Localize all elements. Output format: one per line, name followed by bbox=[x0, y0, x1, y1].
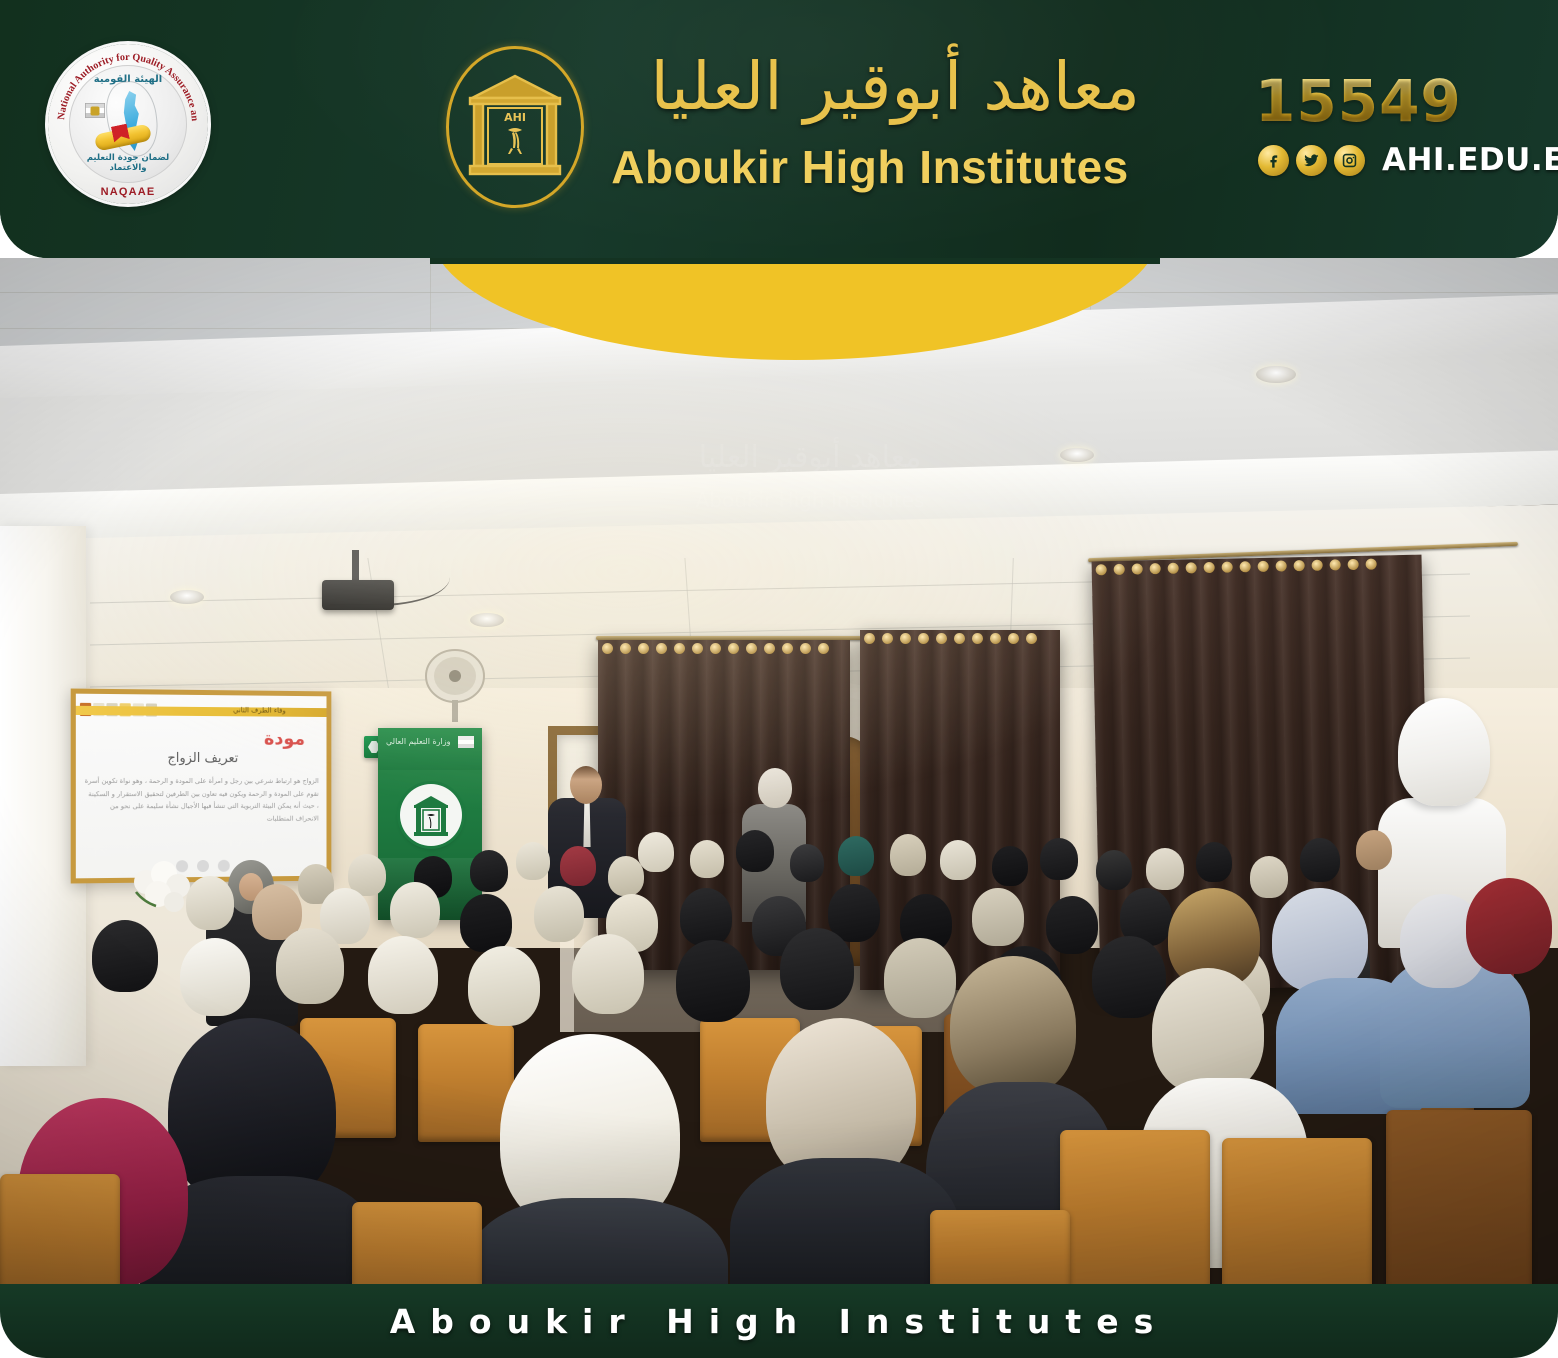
audience-head-foreground bbox=[1272, 888, 1368, 992]
wall-fan-icon bbox=[424, 646, 486, 726]
facebook-icon[interactable] bbox=[1258, 145, 1289, 176]
audience-head bbox=[736, 830, 774, 872]
audience-head bbox=[1040, 838, 1078, 880]
audience-head bbox=[560, 846, 596, 886]
ceiling-light-icon bbox=[1256, 366, 1296, 383]
egypt-flag-icon bbox=[85, 103, 105, 118]
slide-top-bar-text: وفاء الطرف الثاني bbox=[233, 706, 286, 714]
audience-head bbox=[276, 928, 344, 1004]
ceiling-light-icon bbox=[170, 590, 204, 604]
audience-head bbox=[534, 886, 584, 942]
audience-head bbox=[368, 936, 438, 1014]
audience-head bbox=[790, 844, 824, 882]
banner-logo-icon bbox=[400, 784, 462, 846]
auditorium-chair bbox=[1222, 1138, 1372, 1303]
audience-head bbox=[690, 840, 724, 878]
audience-head bbox=[516, 842, 550, 880]
curtain-grommets bbox=[602, 643, 829, 654]
audience-head-foreground bbox=[950, 956, 1076, 1096]
website-url[interactable]: AHI.EDU.EG bbox=[1382, 142, 1558, 178]
banner-flag-icon bbox=[458, 736, 474, 748]
naqaae-seal-inner: الهيئة القومية لضمان جودة التعليم والاعت… bbox=[69, 65, 187, 183]
twitter-icon[interactable] bbox=[1296, 145, 1327, 176]
audience-head bbox=[1092, 936, 1166, 1018]
poster-root: National Authority for Quality Assurance… bbox=[0, 0, 1558, 1358]
audience-head-foreground bbox=[1466, 878, 1552, 974]
event-photo: معاهد أبوقير العليا Aboukir High Institu… bbox=[0, 258, 1558, 1303]
ceiling-light-icon bbox=[1060, 448, 1094, 462]
naqaae-seal-icon: National Authority for Quality Assurance… bbox=[48, 44, 208, 204]
curtain-middle bbox=[860, 630, 1060, 990]
audience-head-foreground bbox=[1152, 968, 1264, 1094]
audience-head bbox=[608, 856, 644, 896]
audience-head bbox=[1196, 842, 1232, 882]
svg-text:AHI: AHI bbox=[504, 111, 526, 124]
audience-head bbox=[890, 834, 926, 876]
audience-head bbox=[1046, 896, 1098, 954]
brand-title-english: Aboukir High Institutes bbox=[600, 140, 1140, 194]
audience-head bbox=[676, 940, 750, 1022]
audience-head bbox=[460, 894, 512, 952]
standing-man-head bbox=[570, 766, 602, 804]
audience-head bbox=[992, 846, 1028, 886]
audience-head bbox=[838, 836, 874, 876]
instagram-icon[interactable] bbox=[1334, 145, 1365, 176]
audience-head bbox=[390, 882, 440, 938]
banner-temple-icon bbox=[412, 793, 450, 837]
audience-head bbox=[940, 840, 976, 880]
ahi-temple-icon: AHI bbox=[464, 68, 566, 186]
standing-woman-white-hijab bbox=[1398, 698, 1490, 806]
audience-head bbox=[92, 920, 158, 992]
audience-head bbox=[470, 850, 508, 892]
projection-screen: وفاء الطرف الثاني مودة تعريف الزواج الزو… bbox=[71, 689, 332, 884]
banner-header bbox=[378, 728, 482, 770]
auditorium-chair bbox=[1060, 1130, 1210, 1303]
ahi-logo-icon: AHI bbox=[446, 46, 584, 208]
footer-bar: Aboukir High Institutes bbox=[0, 1284, 1558, 1358]
audience-body bbox=[730, 1158, 960, 1303]
audience-head bbox=[680, 888, 732, 946]
curtain-grommets bbox=[1096, 559, 1377, 576]
slide-brand-logo: مودة bbox=[264, 728, 305, 749]
ceiling-light-icon bbox=[470, 613, 504, 627]
audience-head bbox=[1096, 850, 1132, 890]
footer-title: Aboukir High Institutes bbox=[390, 1302, 1168, 1341]
banner-ministry-text: وزارة التعليم العالي bbox=[386, 737, 450, 746]
audience-head bbox=[180, 938, 250, 1016]
audience-head bbox=[1250, 856, 1288, 898]
auditorium-chair bbox=[1386, 1110, 1532, 1303]
brand-title-arabic: معاهد أبوقير العليا bbox=[600, 44, 1140, 130]
naqaae-arabic-bottom: لضمان جودة التعليم والاعتماد bbox=[69, 153, 187, 173]
standing-woman-hijab bbox=[758, 768, 792, 808]
hotline-number: 15549 bbox=[1255, 70, 1535, 132]
audience-head bbox=[1356, 830, 1392, 870]
audience-head bbox=[572, 934, 644, 1014]
slide-body-text: الزواج هو ارتباط شرعي بين رجل و امرأة عل… bbox=[84, 775, 319, 826]
slide-title: تعريف الزواج bbox=[76, 750, 327, 766]
slide-footer-dots bbox=[76, 859, 327, 873]
audience-head bbox=[884, 938, 956, 1018]
audience-head bbox=[468, 946, 540, 1026]
curtain-grommets bbox=[864, 633, 1037, 644]
audience-head bbox=[638, 832, 674, 872]
social-links: AHI.EDU.EG bbox=[1258, 142, 1558, 178]
naqaae-acronym: NAQAAE bbox=[48, 186, 208, 198]
audience-head bbox=[972, 888, 1024, 946]
header-banner: National Authority for Quality Assurance… bbox=[0, 0, 1558, 258]
audience-head bbox=[1146, 848, 1184, 890]
audience-head bbox=[1300, 838, 1340, 882]
audience-head bbox=[186, 876, 234, 930]
audience-head bbox=[780, 928, 854, 1010]
